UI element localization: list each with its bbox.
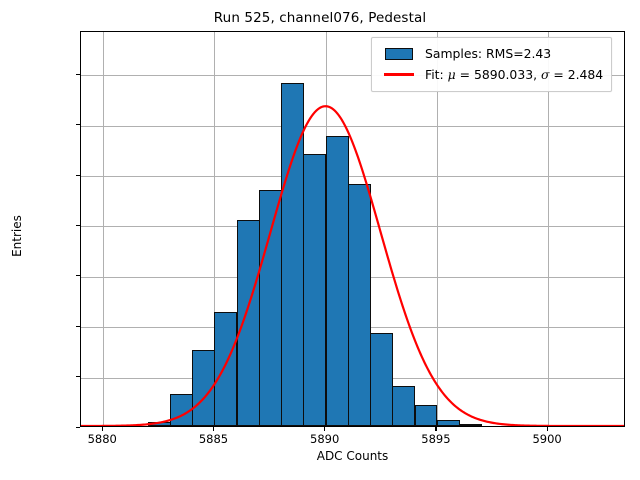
legend-label-samples: Samples: RMS=2.43 [425, 46, 551, 61]
x-tick-mark [547, 427, 548, 431]
histogram-bar [415, 405, 438, 426]
histogram-bar [326, 136, 349, 426]
x-tick-mark [102, 427, 103, 431]
histogram-bar [214, 312, 237, 426]
legend-item-samples[interactable]: Samples: RMS=2.43 [379, 43, 603, 64]
legend-fit-mu-symbol: μ [448, 67, 456, 82]
legend-item-fit[interactable]: Fit: μ = 5890.033, σ = 2.484 [379, 64, 603, 85]
histogram-bar [281, 83, 304, 426]
x-tick-mark [324, 427, 325, 431]
histogram-bar [370, 333, 393, 426]
y-tick-mark [76, 427, 80, 428]
x-tick-label: 5890 [290, 432, 360, 446]
y-tick-mark [76, 275, 80, 276]
legend-fit-suffix: = 2.484 [549, 67, 603, 82]
histogram-bar [259, 190, 282, 426]
x-tick-mark [435, 427, 436, 431]
histogram-bar [459, 424, 482, 426]
y-tick-mark [76, 326, 80, 327]
y-axis-label: Entries [10, 156, 24, 316]
y-tick-mark [76, 124, 80, 125]
y-tick-mark [76, 175, 80, 176]
legend[interactable]: Samples: RMS=2.43 Fit: μ = 5890.033, σ =… [371, 37, 612, 92]
histogram-bar [192, 350, 215, 426]
histogram-bar [303, 154, 326, 426]
y-tick-mark [76, 225, 80, 226]
gridline-horizontal [81, 176, 624, 177]
x-tick-label: 5895 [401, 432, 471, 446]
histogram-bar [237, 220, 260, 426]
legend-patch-icon [379, 48, 419, 60]
figure-canvas: Run 525, channel076, Pedestal 0250500750… [0, 0, 640, 480]
x-tick-mark [213, 427, 214, 431]
y-tick-mark [76, 376, 80, 377]
x-tick-label: 5885 [178, 432, 248, 446]
histogram-bar [148, 422, 171, 426]
chart-title: Run 525, channel076, Pedestal [0, 10, 640, 26]
histogram-bar [170, 394, 193, 426]
histogram-bar [348, 184, 371, 426]
x-tick-label: 5900 [512, 432, 582, 446]
gridline-vertical [103, 32, 104, 426]
legend-fit-prefix: Fit: [425, 67, 448, 82]
y-tick-mark [76, 74, 80, 75]
legend-label-fit: Fit: μ = 5890.033, σ = 2.484 [425, 67, 603, 82]
x-tick-label: 5880 [67, 432, 137, 446]
legend-fit-mid: = 5890.033, [456, 67, 541, 82]
legend-line-icon [379, 73, 419, 75]
histogram-bar [437, 420, 460, 426]
gridline-horizontal [81, 126, 624, 127]
histogram-bar [392, 386, 415, 426]
x-axis-label: ADC Counts [80, 449, 625, 463]
